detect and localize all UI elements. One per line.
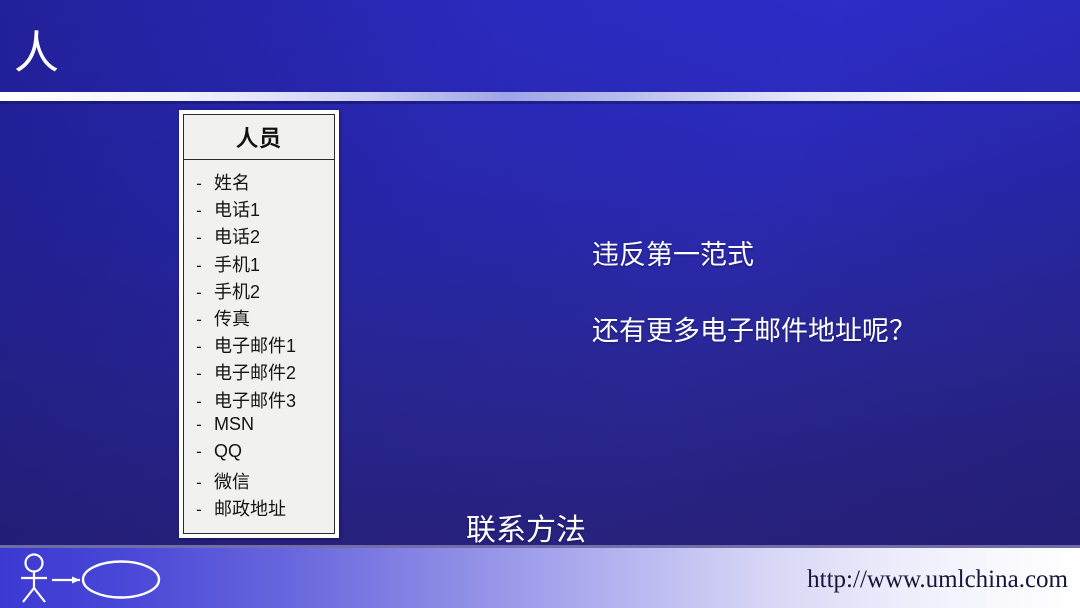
- attribute-label: 电子邮件1: [214, 332, 296, 358]
- attribute-row: - QQ: [184, 441, 334, 468]
- footer-url[interactable]: http://www.umlchina.com: [807, 566, 1068, 594]
- uml-class-name: 人员: [236, 121, 282, 153]
- title-divider-shadow: [0, 101, 1080, 104]
- visibility-marker: -: [184, 364, 214, 384]
- attribute-row: - 姓名: [184, 169, 334, 196]
- use-case-actor-icon: [12, 552, 182, 604]
- visibility-marker: -: [184, 415, 214, 435]
- attribute-row: - 邮政地址: [184, 495, 334, 522]
- attribute-label: 电话2: [214, 223, 260, 249]
- annotation-violates-1nf: 违反第一范式: [592, 233, 754, 272]
- visibility-marker: -: [184, 473, 214, 493]
- visibility-marker: -: [184, 337, 214, 357]
- visibility-marker: -: [184, 201, 214, 221]
- attribute-row: - 电话1: [184, 196, 334, 223]
- attribute-row: - 传真: [184, 305, 334, 332]
- uml-class-name-compartment: 人员: [184, 115, 334, 160]
- attribute-label: 手机2: [214, 278, 260, 304]
- title-divider: [0, 92, 1080, 101]
- attribute-row: - 微信: [184, 468, 334, 495]
- attribute-label: 电子邮件3: [214, 387, 296, 413]
- visibility-marker: -: [184, 442, 214, 462]
- attribute-label: 微信: [214, 468, 250, 494]
- attribute-row: - 电子邮件3: [184, 387, 334, 414]
- visibility-marker: -: [184, 283, 214, 303]
- attribute-label: 手机1: [214, 251, 260, 277]
- attribute-label: QQ: [214, 441, 242, 462]
- attribute-row: - 手机2: [184, 278, 334, 305]
- uml-class-frame: 人员 - 姓名 - 电话1 - 电话2 - 手机1: [183, 114, 335, 534]
- annotation-contact-methods: 联系方法: [466, 505, 586, 549]
- attribute-label: 传真: [214, 305, 250, 331]
- annotation-more-emails: 还有更多电子邮件地址呢？: [592, 309, 916, 348]
- attribute-row: - 电子邮件2: [184, 359, 334, 386]
- uml-class-attribute-compartment: - 姓名 - 电话1 - 电话2 - 手机1 - 手机2: [184, 160, 334, 533]
- attribute-label: 电子邮件2: [214, 359, 296, 385]
- visibility-marker: -: [184, 500, 214, 520]
- attribute-label: 电话1: [214, 196, 260, 222]
- attribute-row: - 电话2: [184, 223, 334, 250]
- attribute-row: - 手机1: [184, 251, 334, 278]
- slide-canvas: 人 人员 - 姓名 - 电话1 - 电话2: [0, 0, 1080, 608]
- attribute-label: MSN: [214, 414, 254, 435]
- visibility-marker: -: [184, 310, 214, 330]
- attribute-label: 姓名: [214, 169, 250, 195]
- visibility-marker: -: [184, 256, 214, 276]
- attribute-label: 邮政地址: [214, 495, 286, 521]
- uml-class-box: 人员 - 姓名 - 电话1 - 电话2 - 手机1: [179, 110, 339, 538]
- visibility-marker: -: [184, 228, 214, 248]
- attribute-row: - MSN: [184, 414, 334, 441]
- page-title: 人: [14, 30, 60, 75]
- attribute-row: - 电子邮件1: [184, 332, 334, 359]
- visibility-marker: -: [184, 174, 214, 194]
- visibility-marker: -: [184, 392, 214, 412]
